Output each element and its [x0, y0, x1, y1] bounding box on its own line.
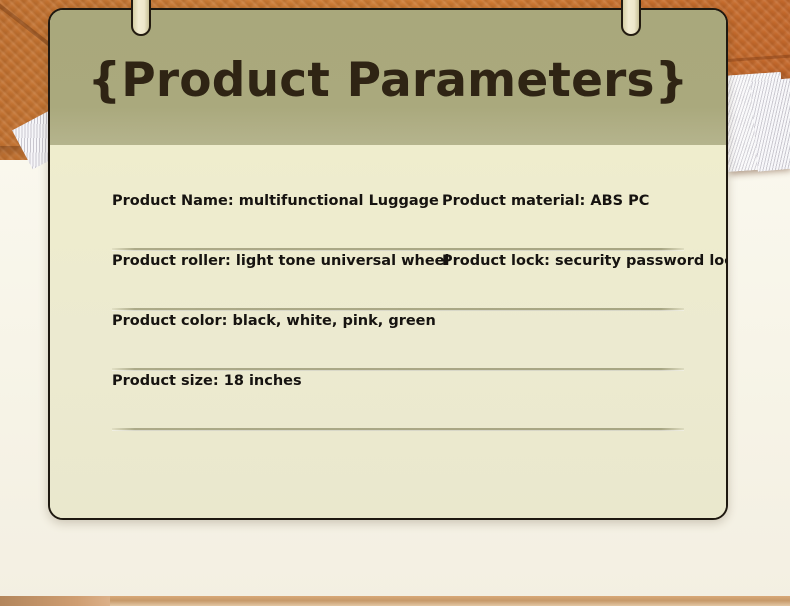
spec-row-content: Product roller: light tone universal whe… [112, 251, 684, 287]
spec-product-color: Product color: black, white, pink, green [112, 311, 442, 331]
parameters-card: {Product Parameters} Product Name: multi… [48, 8, 728, 520]
spec-row-content: Product Name: multifunctional Luggage Pr… [112, 191, 684, 227]
spec-product-roller: Product roller: light tone universal whe… [112, 251, 442, 271]
spec-row-content: Product color: black, white, pink, green [112, 311, 684, 347]
spec-product-material: Product material: ABS PC [442, 191, 649, 211]
page-title: {Product Parameters} [88, 57, 689, 104]
spec-product-lock: Product lock: security password lock [442, 251, 728, 271]
card-body: Product Name: multifunctional Luggage Pr… [50, 145, 726, 518]
spec-product-size: Product size: 18 inches [112, 371, 442, 391]
spec-row: Product roller: light tone universal whe… [112, 251, 684, 311]
row-divider [112, 428, 684, 431]
spec-product-name: Product Name: multifunctional Luggage [112, 191, 442, 211]
bottom-wood-strip [0, 596, 790, 606]
left-clip-icon [131, 0, 151, 36]
spec-row-content: Product size: 18 inches [112, 371, 684, 407]
spec-row: Product Name: multifunctional Luggage Pr… [112, 191, 684, 251]
spec-list: Product Name: multifunctional Luggage Pr… [112, 191, 684, 431]
spec-row: Product size: 18 inches [112, 371, 684, 431]
product-parameters-banner: {Product Parameters} Product Name: multi… [0, 0, 790, 606]
right-clip-icon [621, 0, 641, 36]
fabric-towel-secondary [750, 78, 790, 171]
spec-row: Product color: black, white, pink, green [112, 311, 684, 371]
